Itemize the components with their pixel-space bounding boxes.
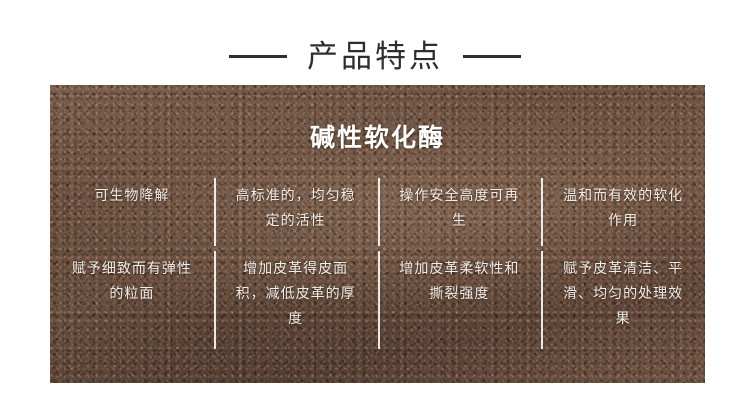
feature-row: 可生物降解 高标准的，均匀稳定的活性 操作安全高度可再生 温和而有效的软化作用	[50, 178, 705, 246]
feature-cell: 增加皮革柔软性和撕裂强度	[378, 251, 542, 349]
feature-cell: 增加皮革得皮面积，减低皮革的厚度	[214, 251, 378, 349]
feature-cell: 可生物降解	[50, 178, 214, 246]
feature-cell: 高标准的，均匀稳定的活性	[214, 178, 378, 246]
page-title: 产品特点	[307, 41, 443, 72]
feature-text: 高标准的，均匀稳定的活性	[230, 183, 362, 233]
section-title: 产品特点	[0, 30, 750, 82]
feature-cell: 操作安全高度可再生	[378, 178, 542, 246]
leather-texture-panel: 碱性软化酶 可生物降解 高标准的，均匀稳定的活性 操作安全高度可再生 温和而有效…	[50, 85, 705, 383]
feature-row: 赋予细致而有弹性的粒面 增加皮革得皮面积，减低皮革的厚度 增加皮革柔软性和撕裂强…	[50, 251, 705, 349]
feature-text: 增加皮革得皮面积，减低皮革的厚度	[230, 256, 362, 331]
panel-content: 碱性软化酶 可生物降解 高标准的，均匀稳定的活性 操作安全高度可再生 温和而有效…	[50, 85, 705, 383]
feature-text: 增加皮革柔软性和撕裂强度	[393, 256, 525, 306]
title-rule-right	[463, 55, 521, 58]
feature-grid: 可生物降解 高标准的，均匀稳定的活性 操作安全高度可再生 温和而有效的软化作用 …	[50, 178, 705, 349]
feature-cell: 温和而有效的软化作用	[541, 178, 705, 246]
feature-cell: 赋予细致而有弹性的粒面	[50, 251, 214, 349]
feature-text: 赋予皮革清洁、平滑、均匀的处理效果	[557, 256, 689, 331]
feature-text: 赋予细致而有弹性的粒面	[66, 256, 198, 306]
feature-cell: 赋予皮革清洁、平滑、均匀的处理效果	[541, 251, 705, 349]
feature-text: 操作安全高度可再生	[393, 183, 525, 233]
title-rule-left	[229, 55, 287, 58]
feature-text: 可生物降解	[94, 183, 169, 208]
product-features-banner: 产品特点 碱性软化酶 可生物降解 高标准的，均匀稳定的活性 操作安全高度可再生	[0, 0, 750, 415]
product-name-heading: 碱性软化酶	[50, 118, 705, 154]
feature-text: 温和而有效的软化作用	[557, 183, 689, 233]
